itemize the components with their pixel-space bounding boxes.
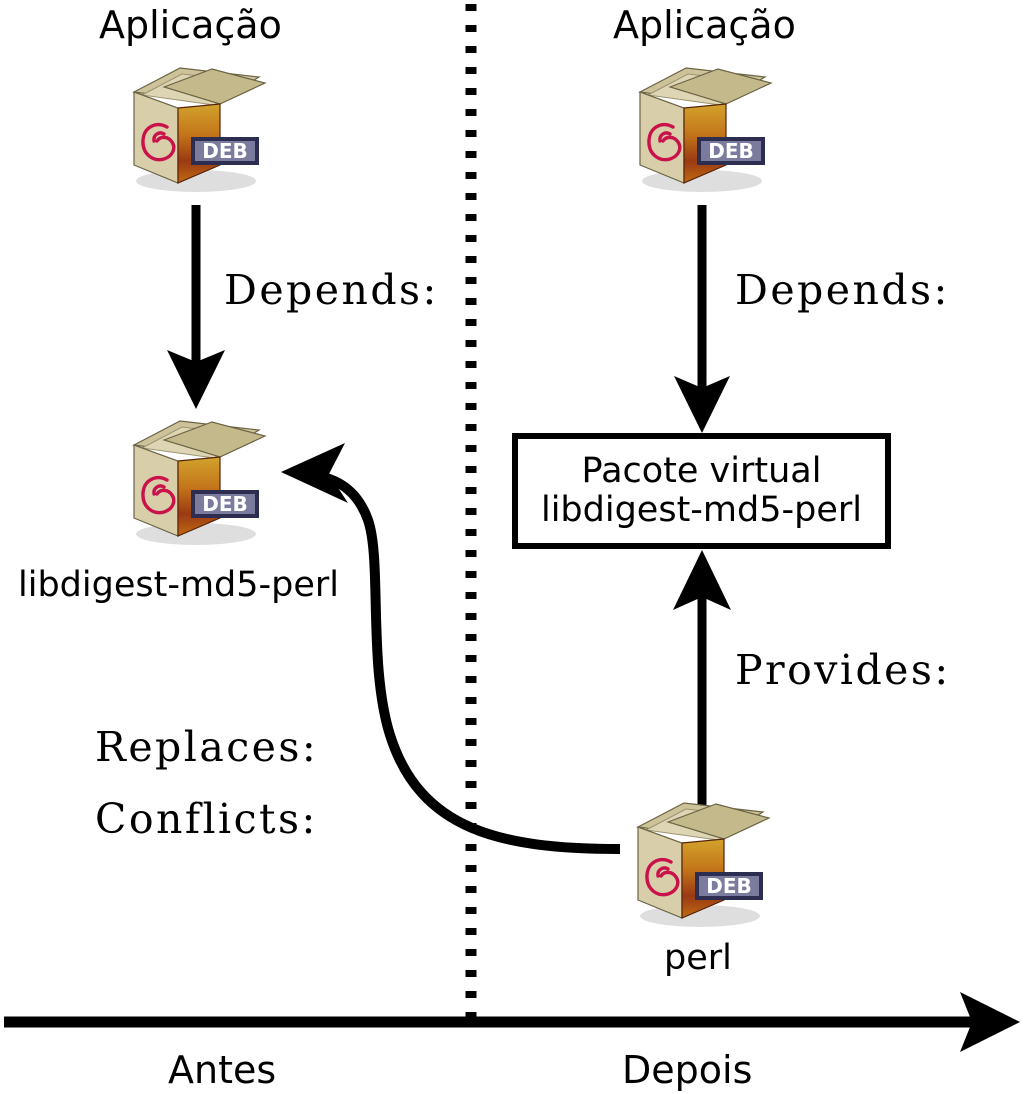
deb-badge: DEB — [695, 872, 763, 900]
relation-replaces: Replaces: — [95, 727, 318, 768]
arrow-provides — [673, 550, 731, 808]
arrow-depends-left — [167, 205, 225, 409]
deb-badge: DEB — [191, 137, 259, 165]
svg-text:DEB: DEB — [202, 139, 248, 163]
svg-text:DEB: DEB — [706, 874, 752, 898]
deb-badge: DEB — [191, 490, 259, 518]
package-label-libdigest-md5-perl: libdigest-md5-perl — [18, 568, 339, 603]
relation-depends-left: Depends: — [224, 270, 439, 311]
relation-depends-right: Depends: — [735, 270, 950, 311]
package-label-perl: perl — [664, 941, 732, 976]
axis-label-depois: Depois — [622, 1051, 752, 1089]
debian-package-icon-app-right: DEB — [626, 55, 776, 195]
debian-package-icon-app-left: DEB — [120, 55, 270, 195]
axis-label-antes: Antes — [168, 1051, 276, 1089]
diagram-canvas: Aplicação Aplicação — [0, 0, 1024, 1094]
virtual-package-line-1: Pacote virtual — [582, 452, 822, 491]
header-application-right: Aplicação — [613, 6, 796, 44]
deb-badge: DEB — [697, 137, 765, 165]
virtual-package-box: Pacote virtual libdigest-md5-perl — [512, 433, 891, 549]
relation-provides: Provides: — [735, 650, 951, 691]
timeline-axis — [4, 992, 1020, 1052]
arrow-depends-right — [674, 205, 730, 433]
svg-text:DEB: DEB — [202, 492, 248, 516]
svg-text:DEB: DEB — [708, 139, 754, 163]
relation-conflicts: Conflicts: — [95, 799, 318, 840]
debian-package-icon-perl: DEB — [624, 790, 774, 930]
debian-package-icon-libdigest: DEB — [120, 408, 270, 548]
header-application-left: Aplicação — [99, 6, 282, 44]
virtual-package-line-2: libdigest-md5-perl — [541, 491, 862, 530]
